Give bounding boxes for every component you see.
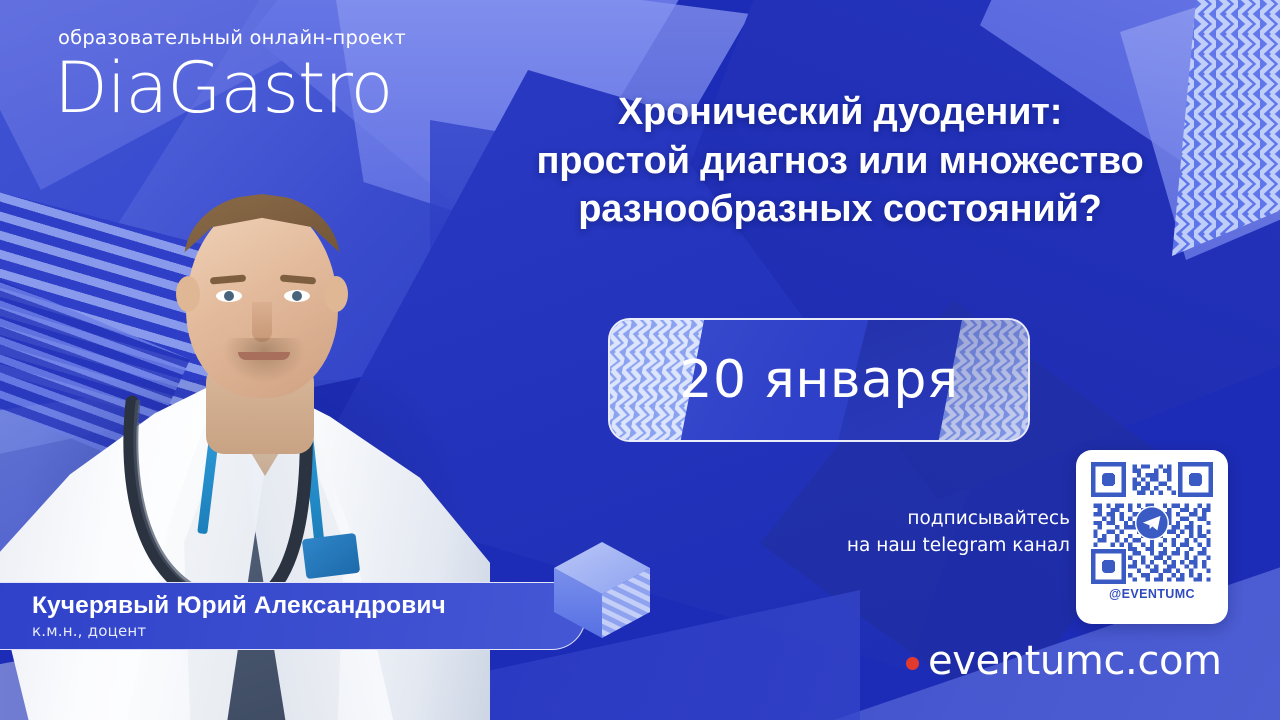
telegram-cta-text: подписывайтесь на наш telegram канал: [760, 506, 1070, 560]
ear-left: [176, 276, 200, 312]
date-badge: 20 января: [608, 318, 1030, 442]
pupil-left: [224, 291, 234, 301]
red-dot-icon: [906, 657, 919, 670]
promo-banner: образовательный онлайн-проект DiaGastro …: [0, 0, 1280, 720]
qr-code[interactable]: [1089, 460, 1215, 586]
speaker-credentials: к.м.н., доцент: [32, 622, 585, 640]
telegram-qr-card[interactable]: @EVENTUMC: [1076, 450, 1228, 624]
brand-logo-text: DiaGastro: [54, 51, 474, 125]
page-title: Хронический дуоденит: простой диагноз ил…: [430, 88, 1250, 234]
website-link[interactable]: eventumc.com: [906, 638, 1222, 684]
telegram-handle: @EVENTUMC: [1109, 587, 1195, 601]
title-line-1: Хронический дуоденит:: [430, 88, 1250, 137]
beard: [224, 338, 304, 382]
ear-right: [324, 276, 348, 312]
speaker-name: Кучерявый Юрий Александрович: [32, 592, 585, 619]
telegram-plane-icon: [1135, 506, 1169, 540]
pupil-right: [292, 291, 302, 301]
mouth: [238, 352, 290, 360]
telegram-cta-line-2: на наш telegram канал: [760, 533, 1070, 560]
date-badge-label: 20 января: [679, 350, 958, 410]
nose: [252, 302, 272, 342]
title-line-3: разнообразных состояний?: [430, 185, 1250, 234]
telegram-cta-line-1: подписывайтесь: [760, 506, 1070, 533]
website-url: eventumc.com: [928, 638, 1222, 684]
title-line-2: простой диагноз или множество: [430, 137, 1250, 186]
speaker-name-bar: Кучерявый Юрий Александрович к.м.н., доц…: [0, 582, 586, 650]
brand-tagline: образовательный онлайн-проект: [54, 26, 474, 49]
isometric-cube-decor: [548, 536, 656, 644]
brand-logo: образовательный онлайн-проект DiaGastro: [54, 26, 474, 125]
